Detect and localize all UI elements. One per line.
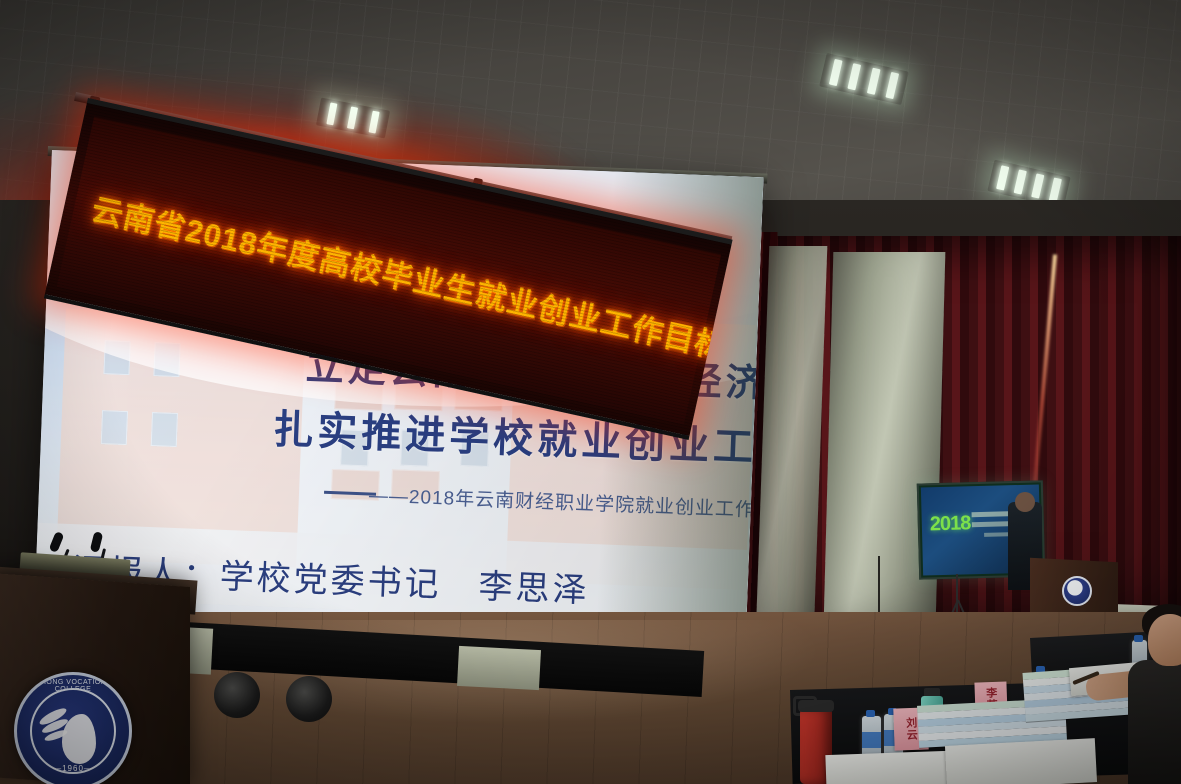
podium-emblem-inner <box>30 688 116 774</box>
attendee-body <box>1128 660 1181 784</box>
face-silhouette-icon <box>62 714 96 764</box>
secondary-screen-year: 2018 <box>930 512 971 536</box>
podium-emblem-year: —1960— <box>17 764 129 773</box>
podium-emblem-icon <box>1062 576 1092 606</box>
loudspeaker <box>214 672 260 718</box>
thermos-cap <box>798 700 834 712</box>
attendee-head <box>1148 614 1181 666</box>
bottle-cap <box>1134 635 1143 642</box>
wall-panel <box>823 252 946 662</box>
paper-sheet <box>945 738 1097 784</box>
loudspeaker <box>286 676 332 722</box>
bottle-label <box>862 732 881 748</box>
conference-hall-photo: 立足云南 服务地方经济 扎实推进学校就业创业工作 ——2018年云南财经职业学院… <box>0 0 1181 784</box>
stage-skirt-panel <box>457 646 541 690</box>
podium-emblem: DEHONG VOCATIONAL COLLEGE —1960— <box>14 672 132 784</box>
presenter-head <box>1015 492 1035 512</box>
bottle-cap <box>866 710 875 717</box>
